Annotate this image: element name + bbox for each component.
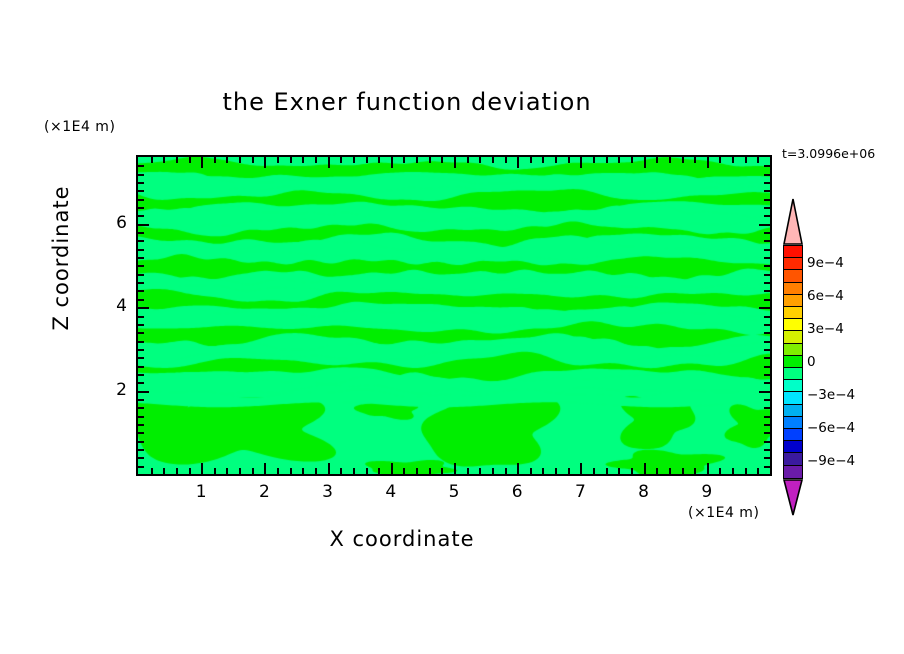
page-title: the Exner function deviation xyxy=(0,88,859,116)
axis-tick xyxy=(138,399,144,401)
axis-tick xyxy=(555,468,557,474)
axis-tick xyxy=(707,463,709,474)
axis-tick xyxy=(138,382,144,384)
axis-tick xyxy=(441,157,443,163)
axis-tick xyxy=(201,157,203,168)
axis-tick xyxy=(328,463,330,474)
axis-tick xyxy=(764,349,770,351)
colorbar-band xyxy=(784,246,802,258)
x-tick-label: 8 xyxy=(624,482,664,502)
axis-tick xyxy=(315,157,317,163)
y-tick-label: 4 xyxy=(97,296,127,316)
axis-tick xyxy=(757,468,759,474)
axis-tick xyxy=(764,457,770,459)
axis-tick xyxy=(403,157,405,163)
axis-tick xyxy=(764,332,770,334)
axis-tick xyxy=(138,282,144,284)
axis-tick xyxy=(764,366,770,368)
axis-tick xyxy=(759,224,770,226)
axis-tick xyxy=(669,468,671,474)
axis-tick xyxy=(290,157,292,163)
colorbar-tick-label: −9e−4 xyxy=(807,453,855,469)
axis-tick xyxy=(138,466,144,468)
colorbar-bands xyxy=(783,245,803,479)
axis-tick xyxy=(764,190,770,192)
axis-tick xyxy=(302,468,304,474)
axis-tick xyxy=(138,441,144,443)
x-tick-label: 2 xyxy=(244,482,284,502)
axis-tick xyxy=(764,374,770,376)
axis-tick xyxy=(764,249,770,251)
axis-tick xyxy=(764,449,770,451)
axis-tick xyxy=(138,316,144,318)
axis-tick xyxy=(764,432,770,434)
colorbar-band xyxy=(784,331,802,343)
axis-tick xyxy=(764,290,770,292)
axis-tick xyxy=(606,468,608,474)
colorbar-band xyxy=(784,258,802,270)
axis-tick xyxy=(479,157,481,163)
axis-tick xyxy=(189,468,191,474)
axis-tick xyxy=(138,199,144,201)
axis-tick xyxy=(759,307,770,309)
axis-tick xyxy=(732,157,734,163)
axis-tick xyxy=(764,282,770,284)
axis-tick xyxy=(694,157,696,163)
colorbar-band xyxy=(784,295,802,307)
axis-tick xyxy=(505,157,507,163)
axis-tick xyxy=(138,341,144,343)
colorbar-band xyxy=(784,368,802,380)
axis-tick xyxy=(764,424,770,426)
axis-tick xyxy=(454,157,456,168)
axis-tick xyxy=(764,257,770,259)
x-tick-label: 7 xyxy=(560,482,600,502)
axis-tick xyxy=(764,174,770,176)
colorbar-under-arrow xyxy=(783,479,803,516)
axis-tick xyxy=(391,463,393,474)
axis-tick xyxy=(138,224,149,226)
axis-tick xyxy=(764,399,770,401)
axis-tick xyxy=(138,165,144,167)
axis-tick xyxy=(138,257,144,259)
axis-tick xyxy=(138,249,144,251)
axis-tick xyxy=(694,468,696,474)
axis-tick xyxy=(764,357,770,359)
axis-tick xyxy=(669,157,671,163)
axis-tick xyxy=(189,157,191,163)
axis-tick xyxy=(138,424,144,426)
axis-tick xyxy=(378,157,380,163)
axis-tick xyxy=(176,468,178,474)
axis-tick xyxy=(391,157,393,168)
axis-tick xyxy=(542,157,544,163)
axis-tick xyxy=(163,468,165,474)
axis-tick xyxy=(682,157,684,163)
colorbar-over-arrow xyxy=(783,198,803,245)
x-tick-label: 5 xyxy=(434,482,474,502)
axis-tick xyxy=(138,265,144,267)
axis-tick xyxy=(732,468,734,474)
x-tick-label: 9 xyxy=(687,482,727,502)
x-tick-label: 1 xyxy=(181,482,221,502)
contour-field xyxy=(138,157,770,474)
axis-tick xyxy=(226,157,228,163)
colorbar-band xyxy=(784,344,802,356)
y-tick-label: 2 xyxy=(97,380,127,400)
x-axis-unit-label: (×1E4 m) xyxy=(688,505,759,521)
axis-tick xyxy=(492,157,494,163)
axis-tick xyxy=(138,349,144,351)
axis-tick xyxy=(138,324,144,326)
axis-tick xyxy=(138,240,144,242)
axis-tick xyxy=(764,265,770,267)
y-axis-unit-label: (×1E4 m) xyxy=(44,119,115,135)
colorbar-band xyxy=(784,466,802,478)
axis-tick xyxy=(138,449,144,451)
axis-tick xyxy=(492,468,494,474)
colorbar-tick-label: −6e−4 xyxy=(807,420,855,436)
axis-tick xyxy=(656,468,658,474)
axis-tick xyxy=(479,468,481,474)
axis-tick xyxy=(454,463,456,474)
colorbar: 9e−46e−43e−40−3e−4−6e−4−9e−4 xyxy=(781,198,805,516)
axis-tick xyxy=(226,468,228,474)
axis-tick xyxy=(138,407,144,409)
axis-tick xyxy=(568,468,570,474)
colorbar-band xyxy=(784,417,802,429)
axis-tick xyxy=(644,463,646,474)
axis-tick xyxy=(138,391,149,393)
colorbar-tick-label: 6e−4 xyxy=(807,288,844,304)
axis-tick xyxy=(467,157,469,163)
axis-tick xyxy=(618,468,620,474)
colorbar-tick-label: 9e−4 xyxy=(807,255,844,271)
axis-tick xyxy=(429,468,431,474)
axis-tick xyxy=(138,416,144,418)
axis-tick xyxy=(530,468,532,474)
colorbar-band xyxy=(784,319,802,331)
axis-tick xyxy=(745,468,747,474)
axis-tick xyxy=(302,157,304,163)
axis-tick xyxy=(353,157,355,163)
axis-tick xyxy=(757,157,759,163)
axis-tick xyxy=(138,215,144,217)
axis-tick xyxy=(555,157,557,163)
axis-tick xyxy=(764,341,770,343)
colorbar-tick-label: −3e−4 xyxy=(807,387,855,403)
axis-tick xyxy=(644,157,646,168)
axis-tick xyxy=(764,215,770,217)
axis-tick xyxy=(138,307,149,309)
axis-tick xyxy=(593,157,595,163)
axis-tick xyxy=(593,468,595,474)
axis-tick xyxy=(138,357,144,359)
colorbar-band xyxy=(784,283,802,295)
axis-tick xyxy=(759,391,770,393)
axis-tick xyxy=(764,324,770,326)
colorbar-tick-labels: 9e−46e−43e−40−3e−4−6e−4−9e−4 xyxy=(807,245,877,479)
axis-tick xyxy=(138,290,144,292)
axis-tick xyxy=(138,457,144,459)
axis-tick xyxy=(378,468,380,474)
axis-tick xyxy=(328,157,330,168)
axis-tick xyxy=(719,468,721,474)
plot-canvas: the Exner function deviation (×1E4 m) (×… xyxy=(0,0,904,654)
y-tick-label: 6 xyxy=(97,213,127,233)
axis-tick xyxy=(764,274,770,276)
axis-tick xyxy=(252,157,254,163)
axis-tick xyxy=(764,382,770,384)
axis-tick xyxy=(151,157,153,163)
axis-tick xyxy=(467,468,469,474)
axis-tick xyxy=(542,468,544,474)
axis-tick xyxy=(745,157,747,163)
x-axis-title: X coordinate xyxy=(0,527,854,551)
axis-tick xyxy=(138,182,144,184)
axis-tick xyxy=(315,468,317,474)
axis-tick xyxy=(631,468,633,474)
axis-tick xyxy=(517,157,519,168)
axis-tick xyxy=(682,468,684,474)
axis-tick xyxy=(505,468,507,474)
axis-tick xyxy=(366,157,368,163)
axis-tick xyxy=(416,157,418,163)
y-axis-title: Z coordinate xyxy=(49,178,73,338)
axis-tick xyxy=(764,299,770,301)
axis-tick xyxy=(239,157,241,163)
axis-tick xyxy=(277,157,279,163)
axis-tick xyxy=(138,366,144,368)
axis-tick xyxy=(568,157,570,163)
axis-tick xyxy=(138,332,144,334)
axis-tick xyxy=(580,157,582,168)
colorbar-band xyxy=(784,307,802,319)
colorbar-tick-label: 0 xyxy=(807,354,816,370)
axis-tick xyxy=(290,468,292,474)
axis-tick xyxy=(764,466,770,468)
axis-tick xyxy=(719,157,721,163)
colorbar-tick-label: 3e−4 xyxy=(807,321,844,337)
axis-tick xyxy=(353,468,355,474)
axis-tick xyxy=(764,240,770,242)
contour-plot-frame xyxy=(136,155,772,476)
colorbar-band xyxy=(784,356,802,368)
colorbar-band xyxy=(784,405,802,417)
colorbar-band xyxy=(784,429,802,441)
axis-tick xyxy=(138,232,144,234)
axis-tick xyxy=(764,407,770,409)
axis-tick xyxy=(764,232,770,234)
axis-tick xyxy=(138,374,144,376)
timestamp-label: t=3.0996e+06 xyxy=(782,146,875,161)
axis-tick xyxy=(403,468,405,474)
x-tick-label: 6 xyxy=(497,482,537,502)
axis-tick xyxy=(138,432,144,434)
axis-tick xyxy=(366,468,368,474)
axis-tick xyxy=(138,299,144,301)
axis-tick xyxy=(214,157,216,163)
axis-tick xyxy=(340,468,342,474)
axis-tick xyxy=(618,157,620,163)
axis-tick xyxy=(429,157,431,163)
colorbar-band xyxy=(784,380,802,392)
colorbar-band xyxy=(784,270,802,282)
axis-tick xyxy=(163,157,165,163)
axis-tick xyxy=(138,190,144,192)
axis-tick xyxy=(764,199,770,201)
x-tick-label: 3 xyxy=(308,482,348,502)
axis-tick xyxy=(517,463,519,474)
axis-tick xyxy=(764,441,770,443)
axis-tick xyxy=(151,468,153,474)
axis-tick xyxy=(764,316,770,318)
axis-tick xyxy=(764,416,770,418)
axis-tick xyxy=(201,463,203,474)
axis-tick xyxy=(764,207,770,209)
x-tick-label: 4 xyxy=(371,482,411,502)
axis-tick xyxy=(214,468,216,474)
axis-tick xyxy=(138,274,144,276)
axis-tick xyxy=(277,468,279,474)
axis-tick xyxy=(606,157,608,163)
axis-tick xyxy=(530,157,532,163)
colorbar-band xyxy=(784,392,802,404)
axis-tick xyxy=(138,174,144,176)
axis-tick xyxy=(264,463,266,474)
axis-tick xyxy=(264,157,266,168)
axis-tick xyxy=(252,468,254,474)
colorbar-band xyxy=(784,441,802,453)
axis-tick xyxy=(707,157,709,168)
axis-tick xyxy=(416,468,418,474)
axis-tick xyxy=(764,182,770,184)
axis-tick xyxy=(656,157,658,163)
colorbar-band xyxy=(784,453,802,465)
axis-tick xyxy=(176,157,178,163)
axis-tick xyxy=(239,468,241,474)
axis-tick xyxy=(340,157,342,163)
axis-tick xyxy=(631,157,633,163)
axis-tick xyxy=(138,207,144,209)
axis-tick xyxy=(580,463,582,474)
axis-tick xyxy=(441,468,443,474)
axis-tick xyxy=(764,165,770,167)
